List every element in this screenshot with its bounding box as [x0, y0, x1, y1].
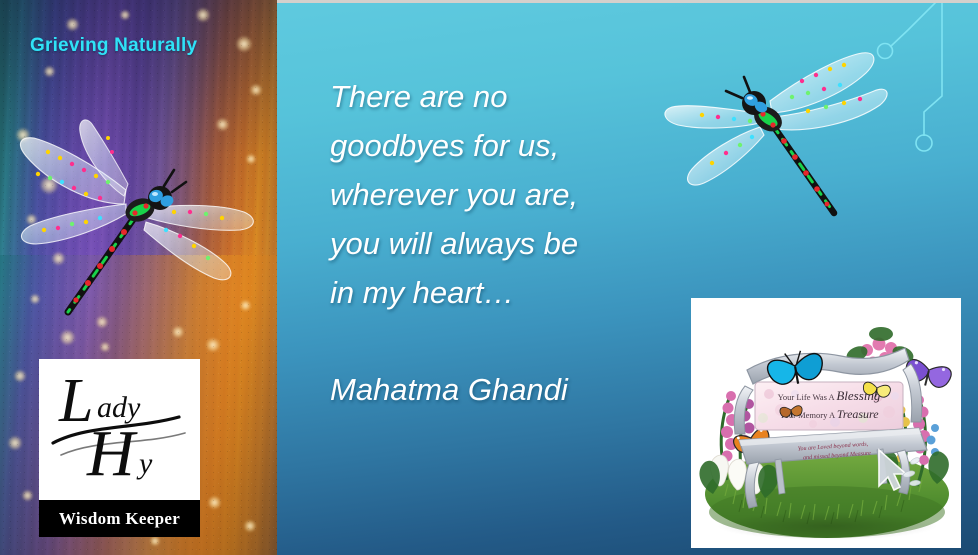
svg-text:y: y	[136, 447, 153, 480]
quote-line: in my heart…	[330, 268, 690, 317]
lady-hy-monogram-icon: L ady H y H L	[39, 359, 200, 500]
slide-canvas: Grieving Naturally L ady H y	[0, 0, 978, 555]
dragonfly-left-illustration	[8, 112, 270, 317]
dragonfly-right-svg	[662, 35, 912, 225]
quote-text: There are no goodbyes for us, wherever y…	[330, 72, 690, 317]
quote-line: you will always be	[330, 219, 690, 268]
dragonfly-right-illustration	[662, 35, 912, 225]
quote-line: There are no	[330, 72, 690, 121]
memorial-bench-illustration: Your Life Was A Blessing Your Memory A T…	[691, 298, 961, 548]
logo-script-mark: L ady H y H L	[39, 359, 200, 500]
page-title: Grieving Naturally	[30, 35, 197, 57]
left-decorative-panel: Grieving Naturally L ady H y	[0, 0, 277, 555]
logo-caption: Wisdom Keeper	[39, 500, 200, 537]
brand-logo[interactable]: L ady H y H L Wisdom Keeper	[39, 359, 200, 537]
quote-line: goodbyes for us,	[330, 121, 690, 170]
top-edge-strip	[277, 0, 978, 3]
memorial-bench-photo-card[interactable]: Your Life Was A Blessing Your Memory A T…	[691, 298, 961, 548]
quote-line: wherever you are,	[330, 170, 690, 219]
quote-author: Mahatma Ghandi	[330, 372, 568, 408]
dragonfly-left-svg	[8, 112, 270, 317]
